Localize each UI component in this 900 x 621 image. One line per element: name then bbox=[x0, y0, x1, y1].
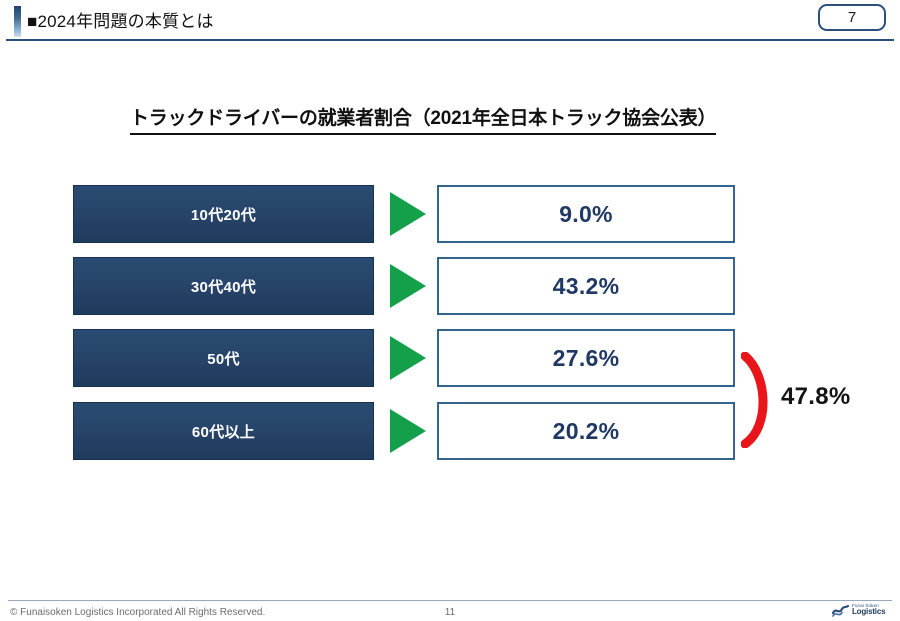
category-label: 10代20代 bbox=[191, 204, 256, 225]
value-box: 43.2% bbox=[437, 257, 735, 315]
arrow-right-icon bbox=[390, 192, 426, 236]
value-label: 27.6% bbox=[553, 345, 620, 372]
footer-divider bbox=[8, 600, 892, 601]
wave-mark-icon bbox=[832, 603, 849, 618]
value-label: 20.2% bbox=[553, 418, 620, 445]
category-box: 10代20代 bbox=[73, 185, 374, 243]
category-box: 50代 bbox=[73, 329, 374, 387]
category-box: 30代40代 bbox=[73, 257, 374, 315]
value-label: 43.2% bbox=[553, 273, 620, 300]
category-label: 60代以上 bbox=[192, 421, 255, 442]
logo-text: Funai Soken Logistics bbox=[852, 604, 885, 617]
red-brace-icon bbox=[741, 352, 775, 448]
category-label: 30代40代 bbox=[191, 276, 256, 297]
chart-row: 10代20代 9.0% bbox=[0, 185, 900, 243]
chart-rows: 10代20代 9.0% 30代40代 43.2% 50代 27.6% bbox=[0, 0, 900, 621]
category-label: 50代 bbox=[207, 348, 240, 369]
logo-bottom-text: Logistics bbox=[852, 608, 885, 616]
category-box: 60代以上 bbox=[73, 402, 374, 460]
arrow-right-icon bbox=[390, 336, 426, 380]
slide: ■2024年問題の本質とは 7 トラックドライバーの就業者割合（2021年全日本… bbox=[0, 0, 900, 621]
value-box: 27.6% bbox=[437, 329, 735, 387]
arrow-right-icon bbox=[390, 409, 426, 453]
chart-row: 30代40代 43.2% bbox=[0, 257, 900, 315]
value-box: 20.2% bbox=[437, 402, 735, 460]
arrow-right-icon bbox=[390, 264, 426, 308]
company-logo: Funai Soken Logistics bbox=[832, 601, 892, 619]
footer-page-number: 11 bbox=[0, 607, 900, 618]
value-box: 9.0% bbox=[437, 185, 735, 243]
total-annotation-label: 47.8% bbox=[781, 383, 851, 411]
value-label: 9.0% bbox=[559, 201, 613, 228]
